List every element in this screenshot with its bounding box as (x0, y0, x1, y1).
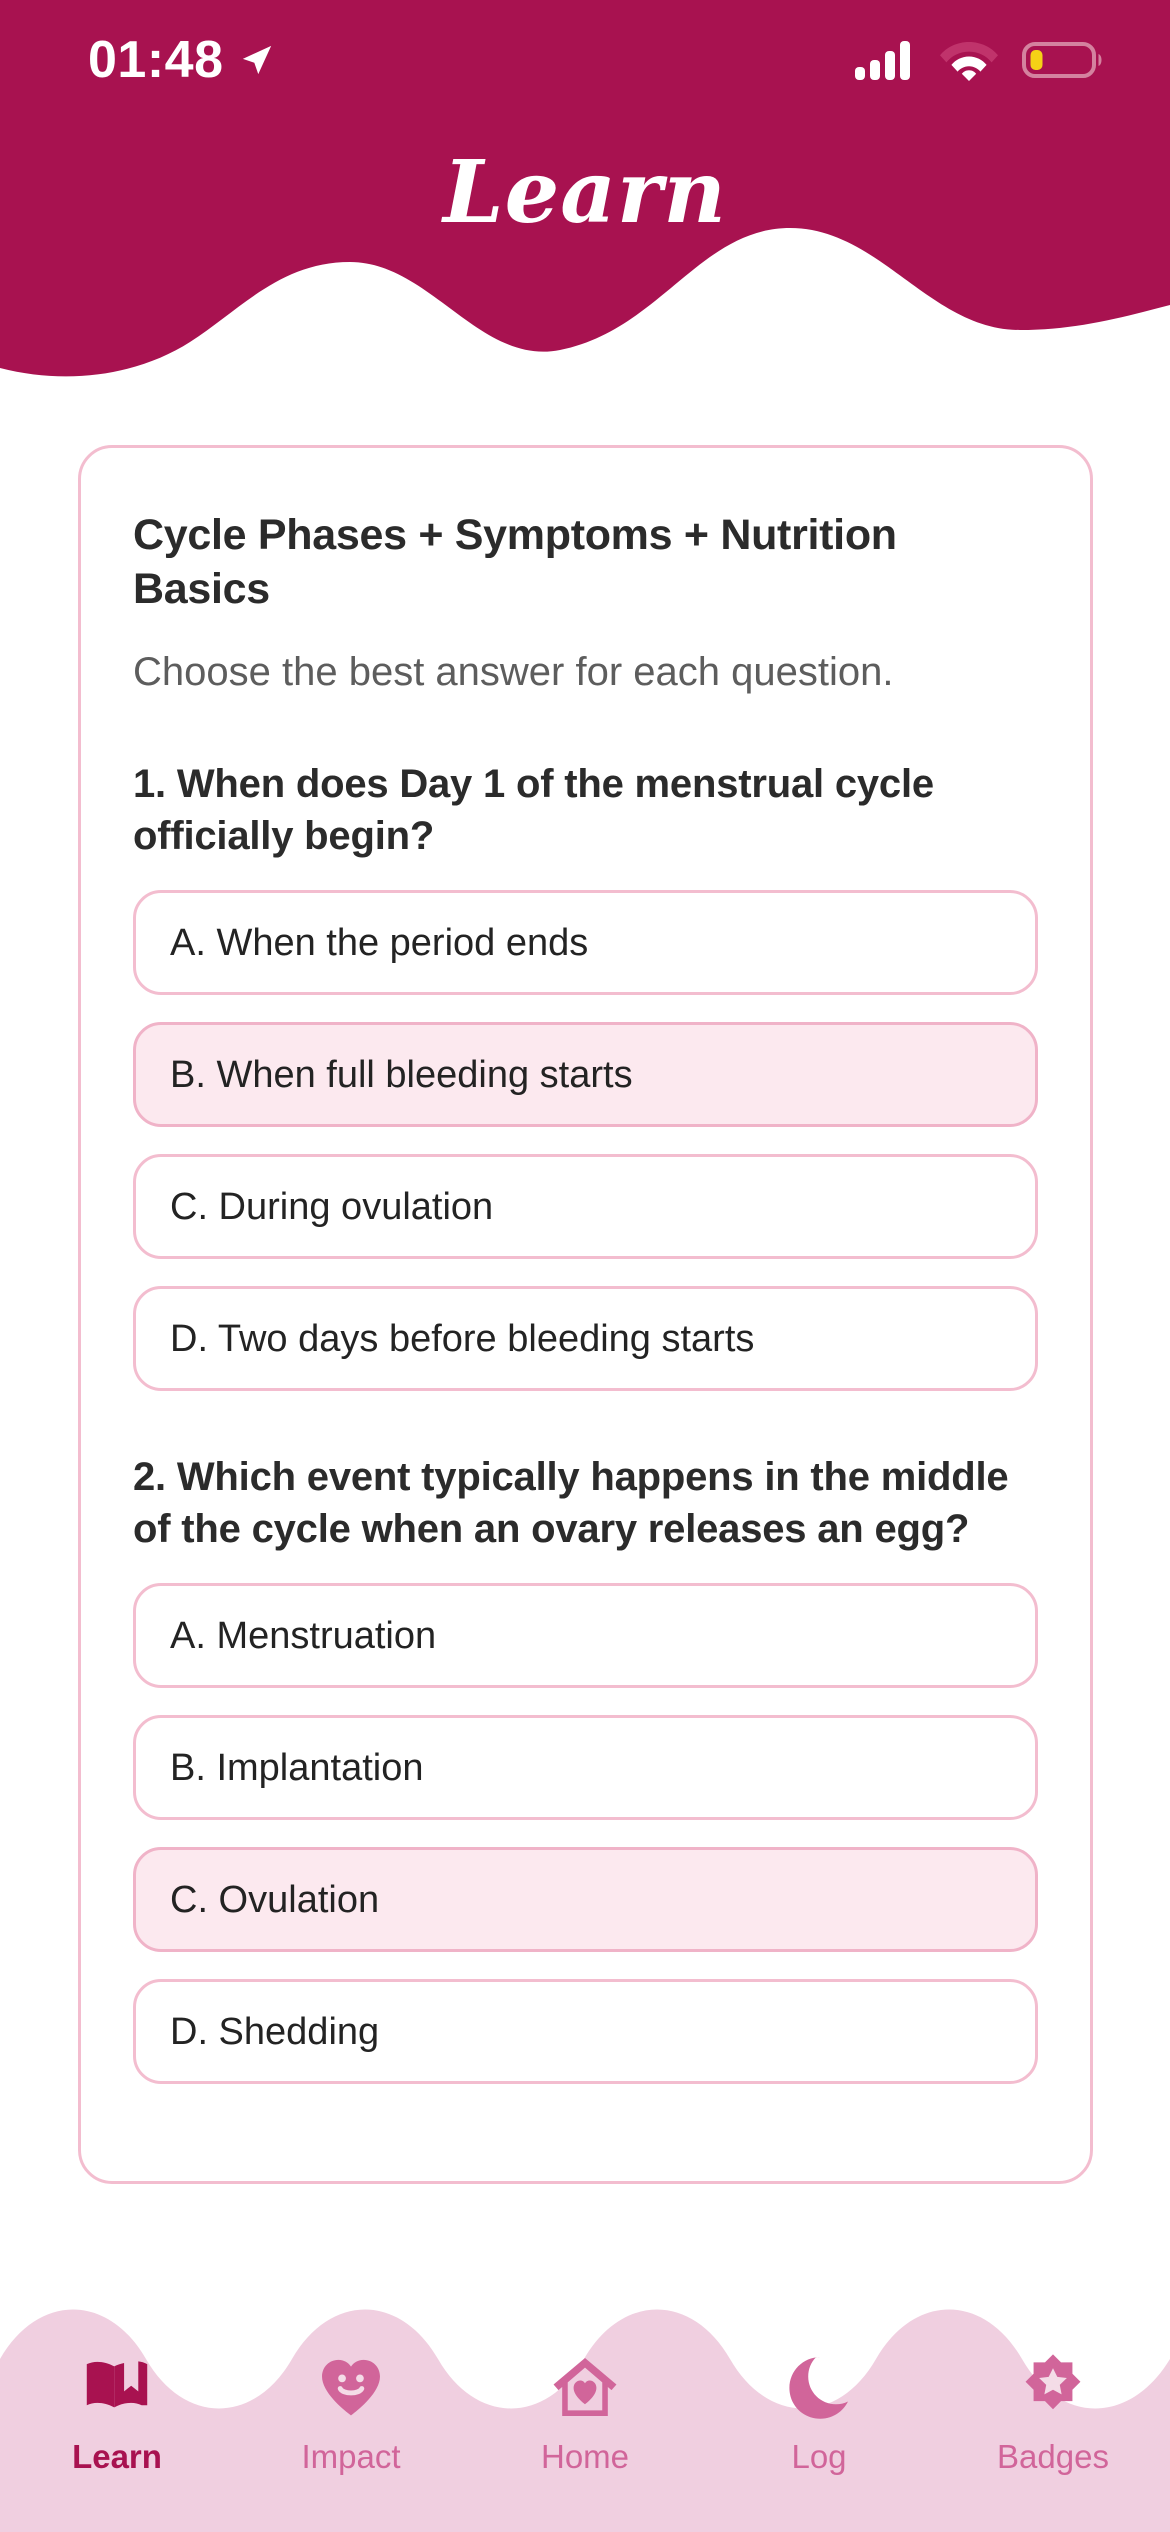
nav-item-impact[interactable]: Impact (234, 2350, 468, 2473)
bottom-navigation-bar: Learn Impact Home Log (0, 2287, 1170, 2532)
nav-label: Badges (997, 2440, 1109, 2473)
option-2a[interactable]: A. Menstruation (133, 1583, 1038, 1688)
option-2b[interactable]: B. Implantation (133, 1715, 1038, 1820)
option-label: A. When the period ends (170, 924, 588, 962)
scroll-content[interactable]: Cycle Phases + Symptoms + Nutrition Basi… (0, 390, 1170, 2532)
nav-label: Impact (301, 2440, 400, 2473)
question-text-1: 1. When does Day 1 of the menstrual cycl… (133, 758, 1038, 862)
option-label: B. Implantation (170, 1749, 423, 1787)
quiz-card: Cycle Phases + Symptoms + Nutrition Basi… (78, 445, 1093, 2184)
open-book-icon (80, 2350, 154, 2424)
badge-star-icon (1016, 2350, 1090, 2424)
battery-low-icon (1022, 39, 1106, 81)
page-title: Learn (0, 150, 1170, 236)
nav-label: Log (791, 2440, 846, 2473)
quiz-title: Cycle Phases + Symptoms + Nutrition Basi… (133, 508, 1038, 616)
option-1c[interactable]: C. During ovulation (133, 1154, 1038, 1259)
option-label: A. Menstruation (170, 1617, 436, 1655)
crescent-moon-icon (782, 2350, 856, 2424)
heart-smile-icon (314, 2350, 388, 2424)
nav-item-home[interactable]: Home (468, 2350, 702, 2473)
question-block-2: 2. Which event typically happens in the … (133, 1451, 1038, 2084)
question-text-2: 2. Which event typically happens in the … (133, 1451, 1038, 1555)
status-bar-right (854, 39, 1106, 81)
option-label: C. During ovulation (170, 1188, 493, 1226)
location-arrow-icon (240, 43, 274, 77)
option-2c[interactable]: C. Ovulation (133, 1847, 1038, 1952)
quiz-subtitle: Choose the best answer for each question… (133, 646, 1038, 698)
nav-item-badges[interactable]: Badges (936, 2350, 1170, 2473)
nav-item-learn[interactable]: Learn (0, 2350, 234, 2473)
option-label: D. Two days before bleeding starts (170, 1320, 754, 1358)
option-1a[interactable]: A. When the period ends (133, 890, 1038, 995)
option-label: B. When full bleeding starts (170, 1056, 633, 1094)
cellular-signal-icon (854, 39, 916, 81)
options-list-1: A. When the period ends B. When full ble… (133, 890, 1038, 1391)
options-list-2: A. Menstruation B. Implantation C. Ovula… (133, 1583, 1038, 2084)
nav-item-log[interactable]: Log (702, 2350, 936, 2473)
option-label: C. Ovulation (170, 1881, 379, 1919)
question-block-1: 1. When does Day 1 of the menstrual cycl… (133, 758, 1038, 1391)
option-1b[interactable]: B. When full bleeding starts (133, 1022, 1038, 1127)
house-heart-icon (548, 2350, 622, 2424)
nav-label: Home (541, 2440, 629, 2473)
wifi-icon (940, 39, 998, 81)
nav-label: Learn (72, 2440, 162, 2473)
status-bar-left: 01:48 (88, 34, 274, 86)
status-bar: 01:48 (0, 0, 1170, 120)
option-2d[interactable]: D. Shedding (133, 1979, 1038, 2084)
option-label: D. Shedding (170, 2013, 379, 2051)
nav-items: Learn Impact Home Log (0, 2332, 1170, 2532)
status-time: 01:48 (88, 34, 224, 86)
option-1d[interactable]: D. Two days before bleeding starts (133, 1286, 1038, 1391)
